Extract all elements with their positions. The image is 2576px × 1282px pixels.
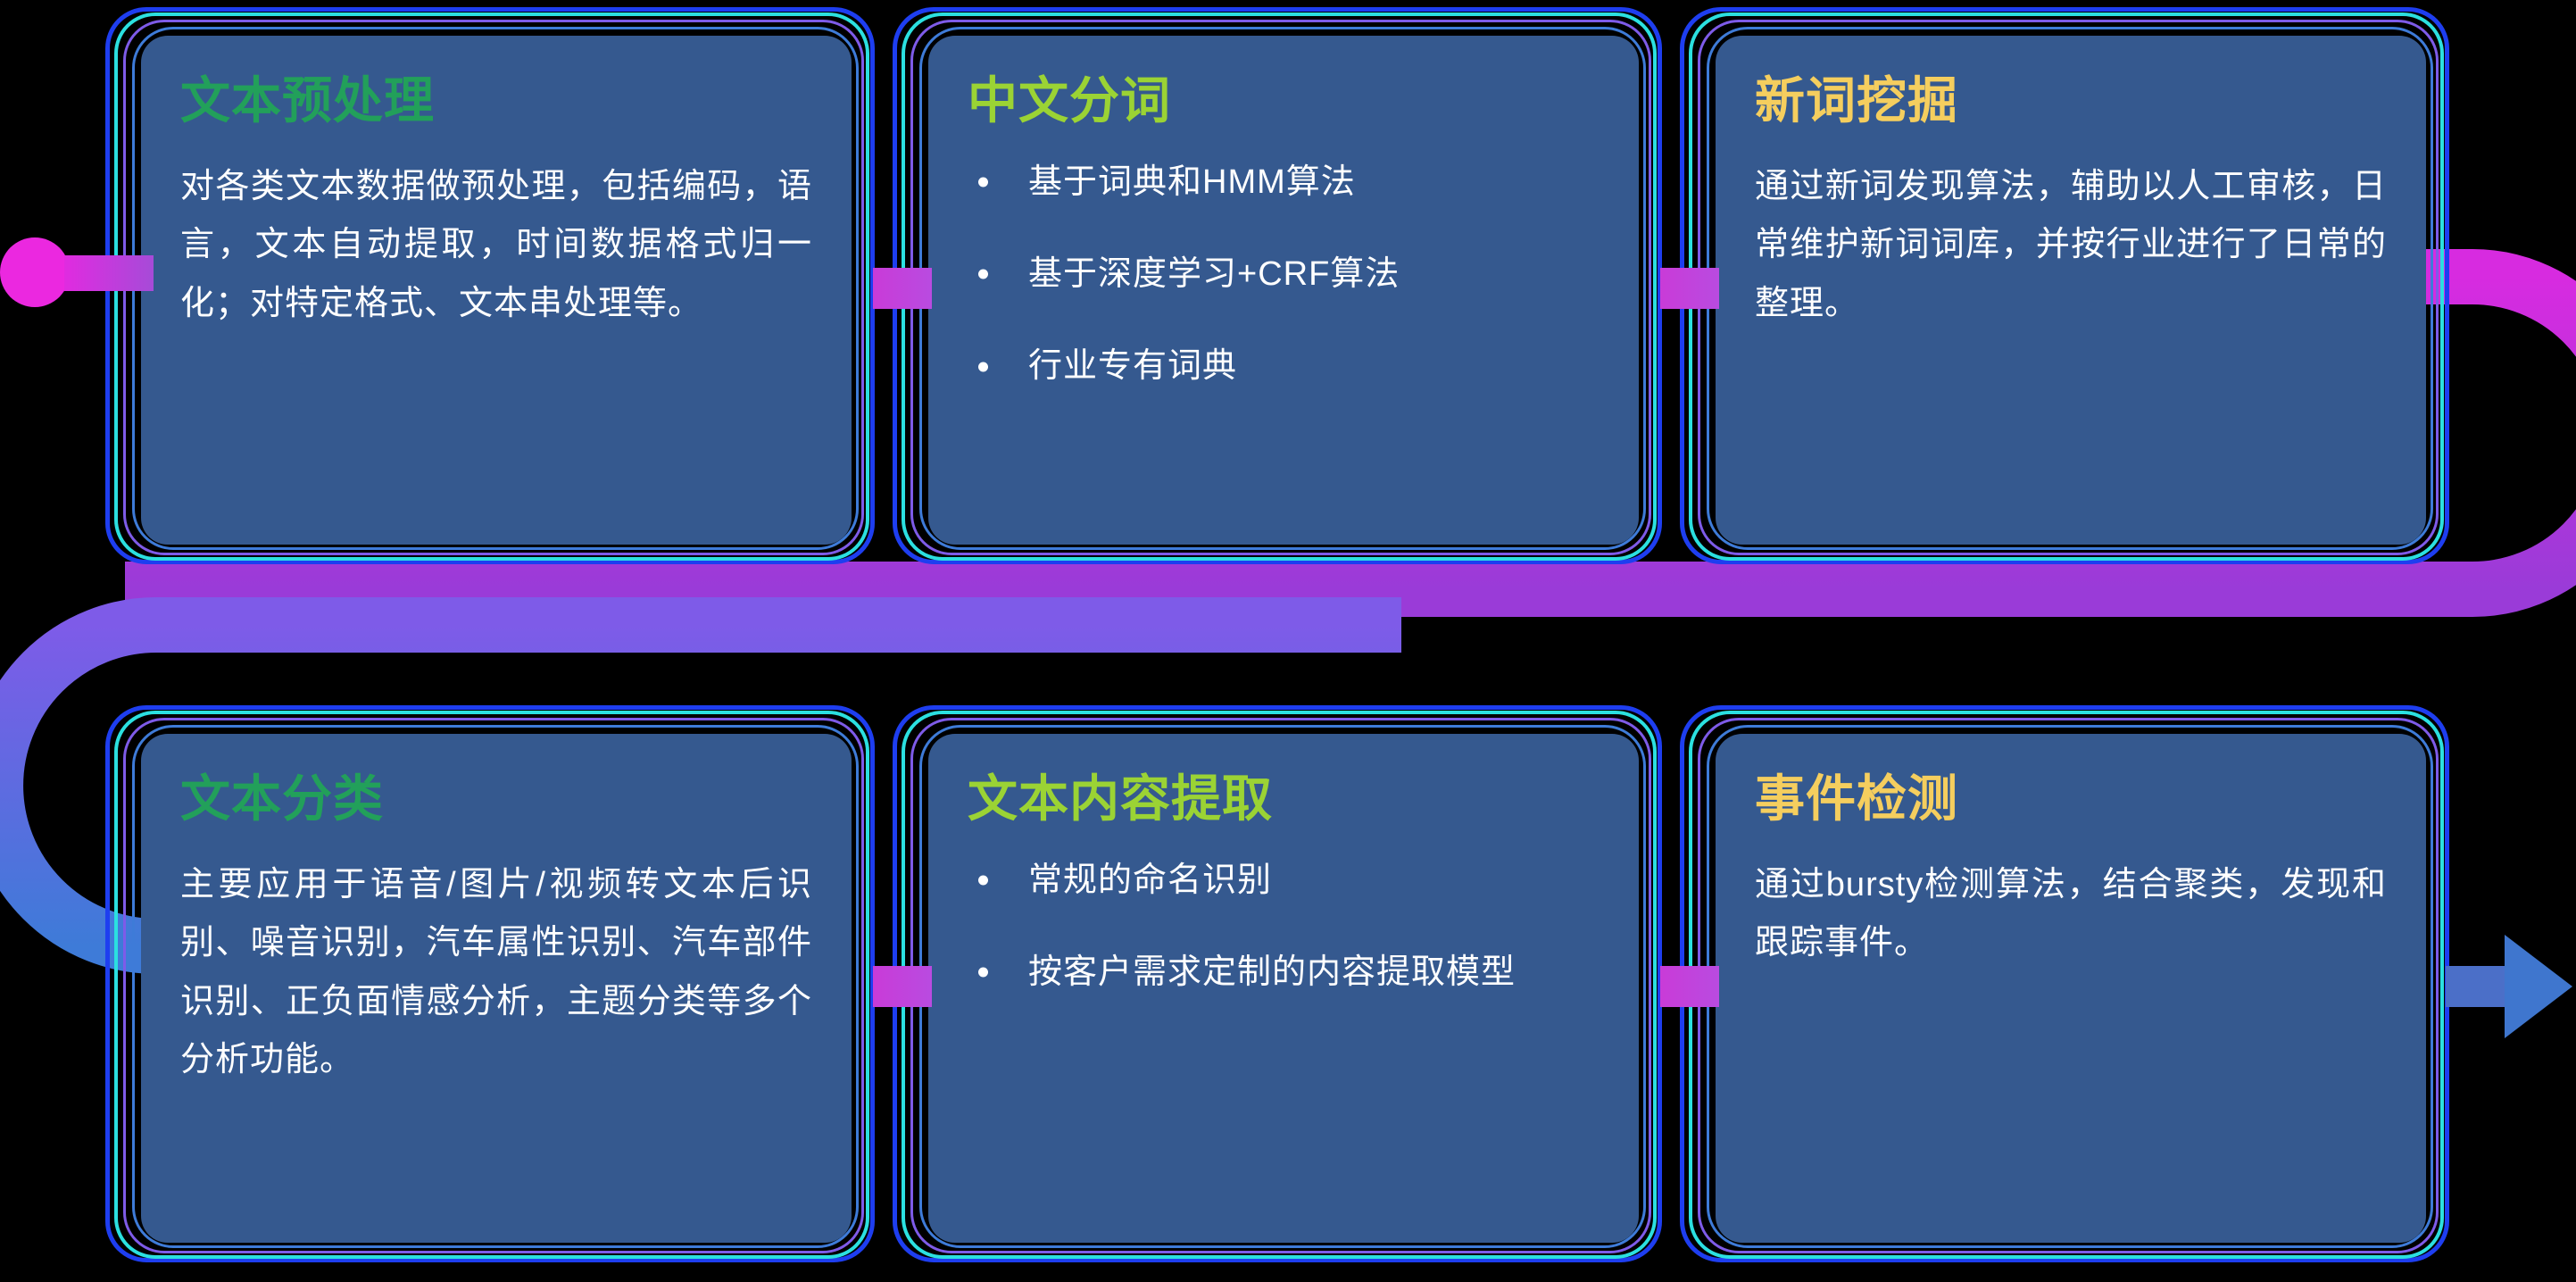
connector-card1-card2 <box>873 268 932 309</box>
connector-card5-card6 <box>1660 966 1719 1007</box>
marker-layer <box>0 0 2576 1278</box>
flow-end-arrow-icon <box>2505 935 2572 1038</box>
connector-card4-card5 <box>873 966 932 1007</box>
flow-start-dot-icon <box>0 237 70 307</box>
connector-card2-card3 <box>1660 268 1719 309</box>
flow-end-stub <box>2446 966 2512 1007</box>
infographic-stage: 文本预处理 对各类文本数据做预处理，包括编码，语言，文本自动提取，时间数据格式归… <box>0 0 2576 1278</box>
flow-start-stub <box>64 255 154 291</box>
